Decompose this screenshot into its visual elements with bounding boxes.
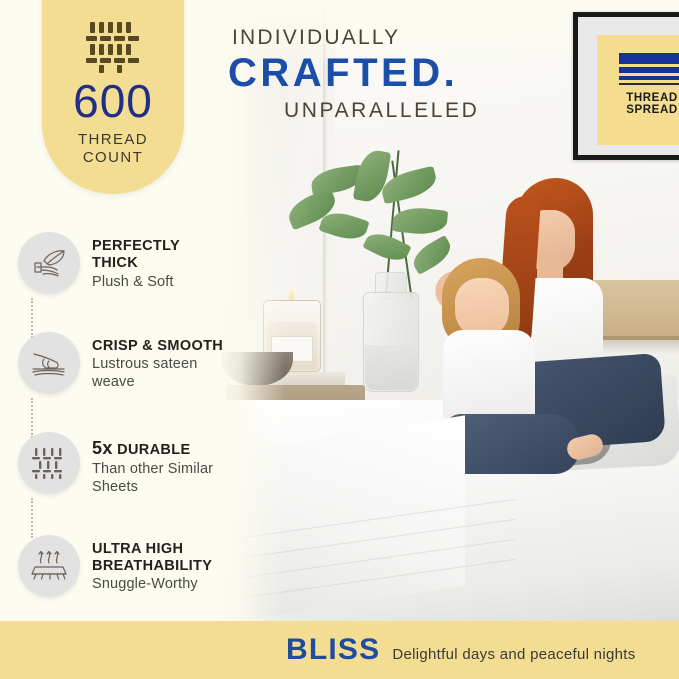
feature-desc: Snuggle-Worthy xyxy=(92,576,230,594)
vase-water xyxy=(365,345,417,390)
feature-title-main: DURABLE xyxy=(117,442,190,458)
feature-desc: Plush & Soft xyxy=(92,274,230,292)
thread-count-label-line2: COUNT xyxy=(42,149,184,167)
child-face xyxy=(455,278,509,338)
headline-line-3: UNPARALLELED xyxy=(228,99,479,123)
thread-count-label: THREAD COUNT xyxy=(42,131,184,168)
thread-count-badge: 600 THREAD COUNT xyxy=(42,0,184,194)
child-top xyxy=(443,330,535,426)
feature-item-perfectly-thick: PERFECTLY THICK Plush & Soft xyxy=(18,232,230,294)
feature-desc: Lustrous sateen weave xyxy=(92,356,230,392)
logo-bar-2 xyxy=(619,67,679,73)
feature-icon-circle xyxy=(18,232,80,294)
thread-spread-bars-icon xyxy=(619,53,679,85)
feature-icon-circle xyxy=(18,332,80,394)
brand-logo-panel: THREAD SPREAD xyxy=(597,35,679,145)
feature-list: PERFECTLY THICK Plush & Soft xyxy=(18,232,230,597)
feature-icon-circle xyxy=(18,432,80,494)
logo-bar-4 xyxy=(619,83,679,85)
brand-name-line2: SPREAD xyxy=(597,104,679,116)
thread-count-number: 600 xyxy=(42,78,184,124)
brand-name-line1: THREAD xyxy=(597,92,679,104)
feature-desc: Than other Similar Sheets xyxy=(92,461,230,497)
product-infographic: 600 THREAD COUNT INDIVIDUALLY CRAFTED. U… xyxy=(0,0,679,679)
feature-title: 5x DURABLE xyxy=(92,438,230,460)
feature-text: 5x DURABLE Than other Similar Sheets xyxy=(80,432,230,497)
logo-bar-3 xyxy=(619,76,679,80)
feature-item-breathability: ULTRA HIGH BREATHABILITY Snuggle-Worthy xyxy=(18,535,230,597)
brand-name: THREAD SPREAD xyxy=(597,92,679,117)
feature-title: ULTRA HIGH BREATHABILITY xyxy=(92,541,230,576)
woven-thread-icon xyxy=(86,18,140,74)
feature-icon-circle xyxy=(18,535,80,597)
feature-item-crisp-smooth: CRISP & SMOOTH Lustrous sateen weave xyxy=(18,332,230,394)
feature-title: PERFECTLY THICK xyxy=(92,238,230,273)
feature-item-durable: 5x DURABLE Than other Similar Sheets xyxy=(18,432,230,497)
banner-title: BLISS xyxy=(286,633,380,667)
headline-line-1: INDIVIDUALLY xyxy=(228,26,479,50)
thread-count-label-line1: THREAD xyxy=(42,131,184,149)
basket-weave-icon xyxy=(32,446,66,480)
feature-title: CRISP & SMOOTH xyxy=(92,338,230,355)
headline-block: INDIVIDUALLY CRAFTED. UNPARALLELED xyxy=(228,26,479,123)
feature-text: ULTRA HIGH BREATHABILITY Snuggle-Worthy xyxy=(80,535,230,595)
logo-bar-1 xyxy=(619,53,679,64)
airflow-mattress-icon xyxy=(30,549,68,583)
hand-feather-icon xyxy=(31,248,67,278)
feature-title-prefix: 5x xyxy=(92,438,113,458)
feature-text: CRISP & SMOOTH Lustrous sateen weave xyxy=(80,332,230,392)
bottom-banner: BLISS Delightful days and peaceful night… xyxy=(0,621,679,679)
feature-text: PERFECTLY THICK Plush & Soft xyxy=(80,232,230,292)
brand-logo-frame: THREAD SPREAD xyxy=(573,12,679,160)
banner-subtitle: Delightful days and peaceful nights xyxy=(392,638,635,663)
hand-smoothing-fabric-icon xyxy=(31,348,67,378)
headline-line-2: CRAFTED. xyxy=(228,52,479,95)
